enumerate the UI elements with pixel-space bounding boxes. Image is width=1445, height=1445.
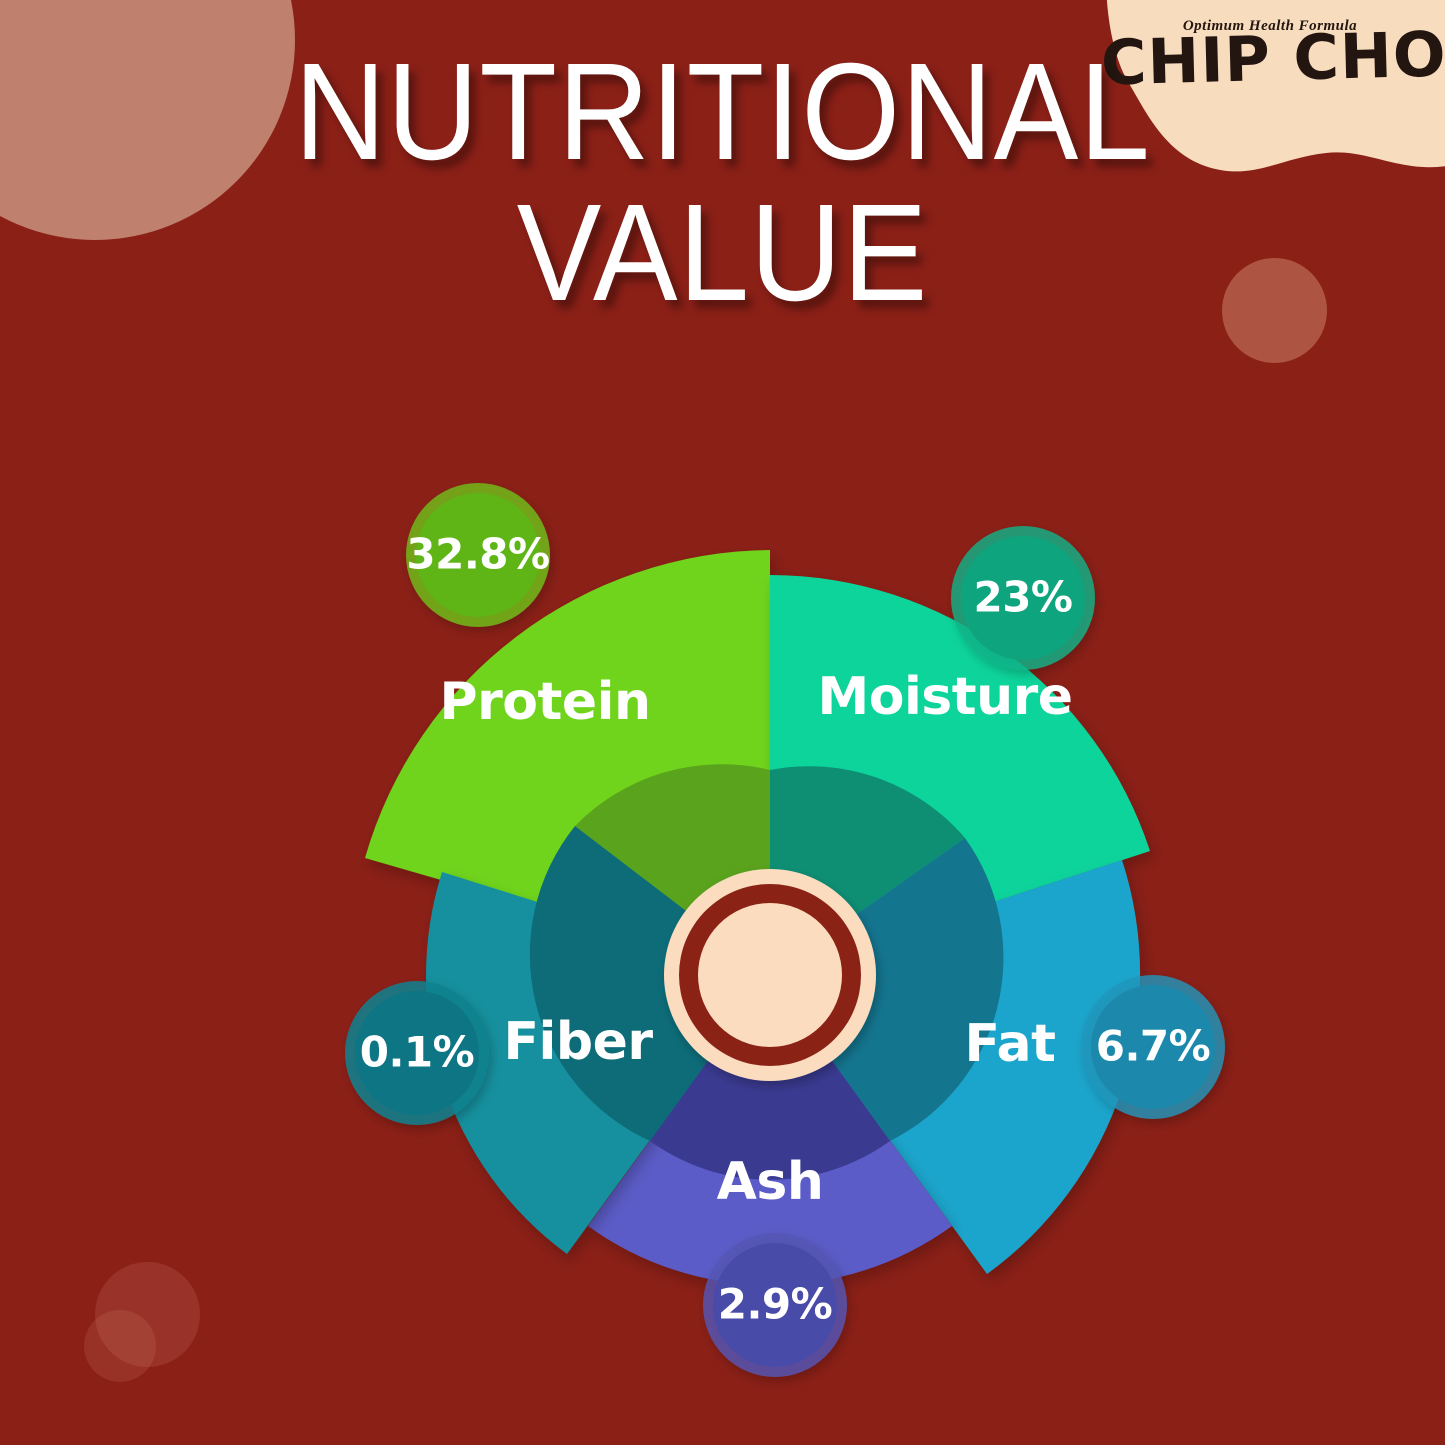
value-bubble-moisture-text: 23% bbox=[973, 573, 1072, 622]
value-bubble-fiber[interactable]: 0.1% bbox=[345, 981, 489, 1125]
decorative-circle-bottom-left-large bbox=[95, 1262, 200, 1367]
value-bubble-moisture[interactable]: 23% bbox=[951, 526, 1095, 670]
value-bubble-protein[interactable]: 32.8% bbox=[406, 483, 550, 627]
logo-tagline: Optimum Health Formula bbox=[1101, 18, 1439, 35]
nutrition-rose-chart: Protein Moisture Fat Ash Fiber 32.8% 23% bbox=[265, 435, 1275, 1395]
value-bubble-protein-text: 32.8% bbox=[406, 530, 549, 579]
value-bubble-ash-text: 2.9% bbox=[718, 1280, 832, 1329]
value-bubble-fat-text: 6.7% bbox=[1096, 1022, 1210, 1071]
page-title-line-2: VALUE bbox=[58, 183, 1387, 324]
segment-label-moisture: Moisture bbox=[817, 667, 1072, 727]
segment-label-fat: Fat bbox=[965, 1014, 1056, 1074]
page-title-line-1: NUTRITIONAL bbox=[294, 35, 1151, 189]
center-medallion bbox=[664, 869, 876, 1081]
segment-label-ash: Ash bbox=[717, 1152, 824, 1212]
segment-label-protein: Protein bbox=[440, 672, 651, 732]
segment-label-fiber: Fiber bbox=[504, 1012, 654, 1072]
nutritional-value-infographic: Optimum Health Formula CHIP CHOPs NUTRIT… bbox=[0, 0, 1445, 1445]
value-bubble-fat[interactable]: 6.7% bbox=[1081, 975, 1225, 1119]
page-title: NUTRITIONAL VALUE bbox=[58, 42, 1387, 324]
medallion-inner-disc bbox=[698, 903, 842, 1047]
value-bubble-ash[interactable]: 2.9% bbox=[703, 1233, 847, 1377]
decorative-circle-bottom-left-small bbox=[84, 1310, 156, 1382]
value-bubble-fiber-text: 0.1% bbox=[360, 1028, 474, 1077]
